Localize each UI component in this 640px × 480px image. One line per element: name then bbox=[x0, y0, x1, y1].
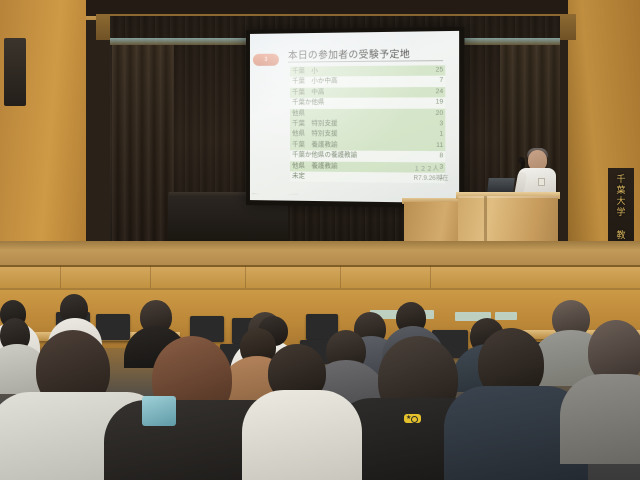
slide-row-label: 千葉か他県の養護教諭 bbox=[290, 151, 411, 162]
slide-row-value: 19 bbox=[411, 98, 445, 109]
slide-table-row: 千葉 小か中高7 bbox=[290, 76, 445, 88]
slide-row-label: 千葉か他県 bbox=[290, 98, 411, 109]
slide-table-row: 千葉か他県の養護教諭8 bbox=[290, 151, 445, 163]
slide-row-label: 千葉 小 bbox=[290, 66, 411, 78]
slide-title: 本日の参加者の受験予定地 bbox=[288, 46, 410, 62]
slide-table-row: 千葉 特別支援3 bbox=[290, 119, 445, 130]
curtain-fold-left bbox=[112, 45, 174, 241]
projection-screen: 3 本日の参加者の受験予定地 千葉 小25千葉 小か中高7千葉 中高24千葉か他… bbox=[246, 27, 464, 209]
slide-row-value: 3 bbox=[411, 119, 445, 130]
slide-row-value: 25 bbox=[411, 65, 445, 76]
slide-row-label: 他県 特別支援 bbox=[290, 130, 411, 141]
slide-table-row: 千葉 中高24 bbox=[290, 87, 445, 98]
person-shoulders bbox=[242, 390, 362, 480]
slide-table-row: 他県 特別支援1 bbox=[290, 130, 445, 141]
belongings-bag bbox=[142, 396, 176, 426]
rear-wall-panel bbox=[495, 312, 517, 320]
slide-row-label: 千葉 中高 bbox=[290, 87, 411, 98]
seat-back bbox=[96, 314, 130, 340]
slide-row-label: 未定 bbox=[290, 171, 411, 183]
slide-row-value: 11 bbox=[411, 140, 445, 151]
slide-table-row: 他県20 bbox=[290, 108, 445, 119]
laptop-icon bbox=[487, 178, 514, 192]
slide-row-label: 千葉 特別支援 bbox=[290, 119, 411, 130]
slide-row-label: 他県 養護教諭 bbox=[290, 161, 411, 173]
slide-row-value: 20 bbox=[411, 108, 445, 119]
auditorium-photo: 3 本日の参加者の受験予定地 千葉 小25千葉 小か中高7千葉 中高24千葉か他… bbox=[0, 0, 640, 480]
slide-footnote-total: １２２人 bbox=[414, 165, 449, 175]
slide-footnote: １２２人 R7.9.26現在 bbox=[414, 165, 449, 184]
slide-footnote-date: R7.9.26現在 bbox=[414, 175, 449, 185]
tshirt-emblem-icon bbox=[404, 414, 421, 423]
slide-row-value: 24 bbox=[411, 87, 445, 98]
person-shoulders bbox=[560, 374, 640, 464]
slide-page-tab: 3 bbox=[253, 54, 279, 66]
slide-row-label: 千葉 小か中高 bbox=[290, 76, 411, 87]
slide-table-row: 千葉か他県19 bbox=[290, 98, 445, 109]
slide-surface: 3 本日の参加者の受験予定地 千葉 小25千葉 小か中高7千葉 中高24千葉か他… bbox=[250, 31, 459, 203]
slide-row-value: 8 bbox=[411, 151, 445, 162]
slide-title-rule bbox=[288, 60, 443, 63]
speaker-name-badge bbox=[538, 178, 545, 186]
slide-row-label: 千葉 養護教諭 bbox=[290, 140, 411, 151]
slide-row-value: 1 bbox=[411, 130, 445, 141]
wall-speaker-icon bbox=[4, 38, 26, 106]
slide-row-value: 7 bbox=[411, 76, 445, 87]
slide-row-label: 他県 bbox=[290, 108, 411, 119]
stage-floor bbox=[0, 241, 640, 267]
